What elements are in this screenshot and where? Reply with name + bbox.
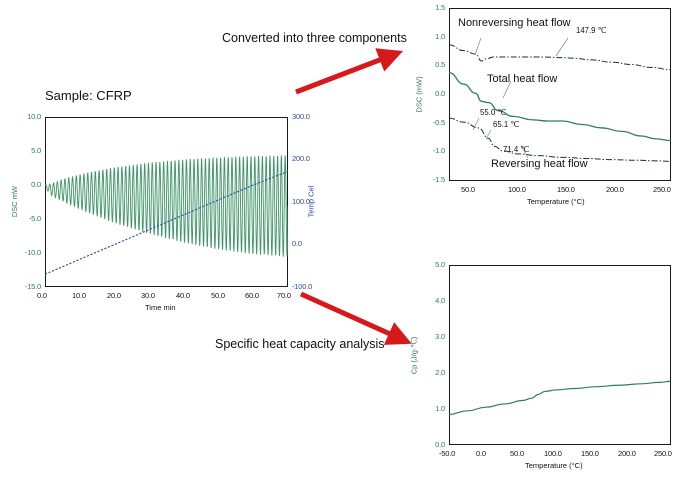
specific-heat-capacity-curve: [449, 381, 671, 414]
specific-heat-capacity-plot-area: 5.0 4.0 3.0 2.0 1.0 0.0 -50.0 0.0 50.0 1…: [449, 265, 671, 445]
leader-line-nonreversing: [475, 38, 481, 55]
annotation-55c: 55.0 ℃: [480, 108, 506, 117]
ytick-br-3: 2.0: [435, 368, 445, 377]
ytick-tr-0: 1.5: [435, 3, 445, 12]
yaxis-title-main: DSC mW: [10, 186, 19, 217]
modulated-dsc-plot-area: 10.0 5.0 0.0 -5.0 -10.0 -15.0 300.0 200.…: [45, 117, 288, 287]
leader-line-65: [486, 130, 491, 139]
xtick-tr-0: 50.0: [461, 185, 475, 194]
ytick-tr-4: -0.5: [433, 118, 445, 127]
label-nonreversing-heat-flow: Nonreversing heat flow: [458, 17, 571, 29]
ytick-main-1: 5.0: [31, 146, 41, 155]
ytick-tr-5: -1.0: [433, 146, 445, 155]
nonreversing-heat-flow-curve: [449, 45, 671, 70]
xaxis-title-main: Time min: [145, 303, 176, 312]
sample-title: Sample: CFRP: [45, 88, 132, 103]
yaxis-title-br: Cp (J/g·℃): [409, 337, 418, 375]
xtick-tr-1: 100.0: [508, 185, 526, 194]
cp-curve-group: [449, 265, 671, 445]
xtick-main-4: 40.0: [176, 291, 190, 300]
xtick-main-0: 0.0: [37, 291, 47, 300]
label-reversing-heat-flow: Reversing heat flow: [491, 158, 588, 170]
ytick-tr-3: 0.0: [435, 89, 445, 98]
ytick-main-0: 10.0: [27, 112, 41, 121]
three-components-curves: [449, 8, 671, 181]
three-components-plot-area: Nonreversing heat flow Total heat flow R…: [449, 8, 671, 181]
modulated-heat-flow-curve: [45, 155, 288, 256]
annotation-65-1c: 65.1 ℃: [493, 120, 519, 129]
xtick-main-1: 10.0: [72, 291, 86, 300]
xaxis-title-br: Temperature (°C): [525, 461, 583, 470]
xtick-br-0: -50.0: [439, 449, 455, 458]
red-arrow-down-right-icon: [295, 288, 415, 348]
xtick-br-1: 0.0: [476, 449, 486, 458]
xtick-tr-2: 150.0: [557, 185, 575, 194]
ytick-tr-2: 0.5: [435, 60, 445, 69]
ytick-tr-1: 1.0: [435, 32, 445, 41]
xtick-tr-4: 250.0: [653, 185, 671, 194]
xtick-tr-3: 200.0: [606, 185, 624, 194]
yaxis-title-tr: DSC (mW): [415, 76, 424, 112]
y2tick-main-0: 300.0: [292, 112, 310, 121]
xtick-main-5: 50.0: [211, 291, 225, 300]
xtick-br-4: 150.0: [581, 449, 599, 458]
ytick-tr-6: -1.5: [433, 175, 445, 184]
xaxis-title-tr: Temperature (°C): [527, 197, 585, 206]
y2tick-main-3: 0.0: [292, 239, 302, 248]
caption-converted-components: Converted into three components: [222, 31, 407, 45]
y2axis-title-main: Temp Cel: [306, 186, 315, 218]
specific-heat-capacity-chart-panel: 5.0 4.0 3.0 2.0 1.0 0.0 -50.0 0.0 50.0 1…: [405, 255, 700, 490]
xtick-br-6: 250.0: [654, 449, 672, 458]
ytick-br-1: 4.0: [435, 296, 445, 305]
xtick-br-5: 200.0: [618, 449, 636, 458]
reversing-heat-flow-curve: [449, 118, 671, 161]
y2tick-main-1: 200.0: [292, 154, 310, 163]
xtick-main-2: 20.0: [107, 291, 121, 300]
xtick-br-3: 100.0: [544, 449, 562, 458]
modulated-dsc-chart-panel: Sample: CFRP 10.0 5.0 0.0 -5.0 -10.0 -15…: [0, 80, 330, 305]
ytick-main-4: -10.0: [25, 248, 41, 257]
three-components-chart-panel: Nonreversing heat flow Total heat flow R…: [405, 0, 700, 215]
ytick-br-5: 0.0: [435, 440, 445, 449]
ytick-main-2: 0.0: [31, 180, 41, 189]
xtick-main-3: 30.0: [141, 291, 155, 300]
ytick-main-5: -15.0: [25, 282, 41, 291]
ytick-main-3: -5.0: [29, 214, 41, 223]
ytick-br-0: 5.0: [435, 260, 445, 269]
ytick-br-4: 1.0: [435, 404, 445, 413]
xtick-main-6: 60.0: [245, 291, 259, 300]
red-arrow-up-right-icon: [290, 48, 405, 98]
annotation-71-4c: 71.4 ℃: [503, 145, 529, 154]
xtick-main-7: 70.0: [277, 291, 291, 300]
annotation-147-9c: 147.9 ℃: [576, 26, 606, 35]
label-total-heat-flow: Total heat flow: [487, 73, 557, 85]
leader-line-147: [556, 38, 568, 56]
modulated-dsc-curves: [45, 117, 288, 287]
xtick-br-2: 50.0: [510, 449, 524, 458]
ytick-br-2: 3.0: [435, 332, 445, 341]
